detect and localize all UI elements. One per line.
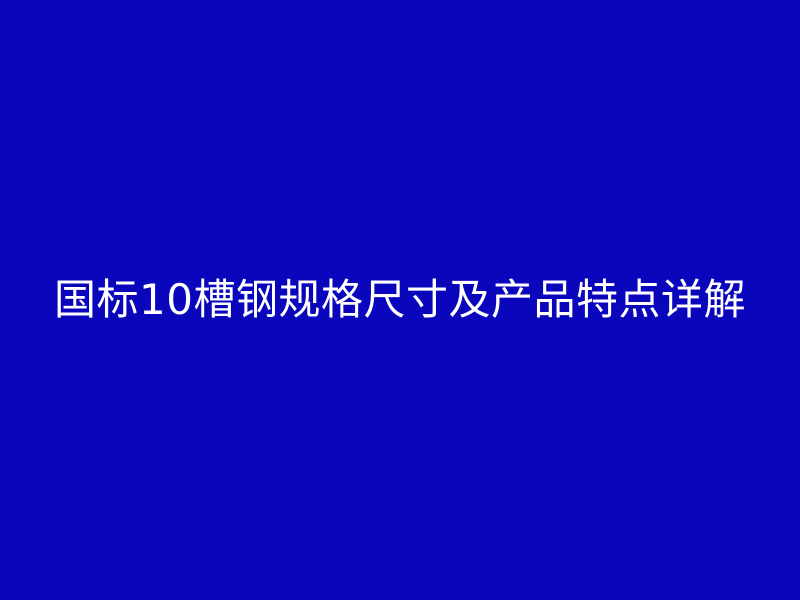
banner-canvas: 国标10槽钢规格尺寸及产品特点详解: [0, 0, 800, 600]
page-title: 国标10槽钢规格尺寸及产品特点详解: [54, 278, 746, 322]
headline-block: 国标10槽钢规格尺寸及产品特点详解: [0, 278, 800, 322]
